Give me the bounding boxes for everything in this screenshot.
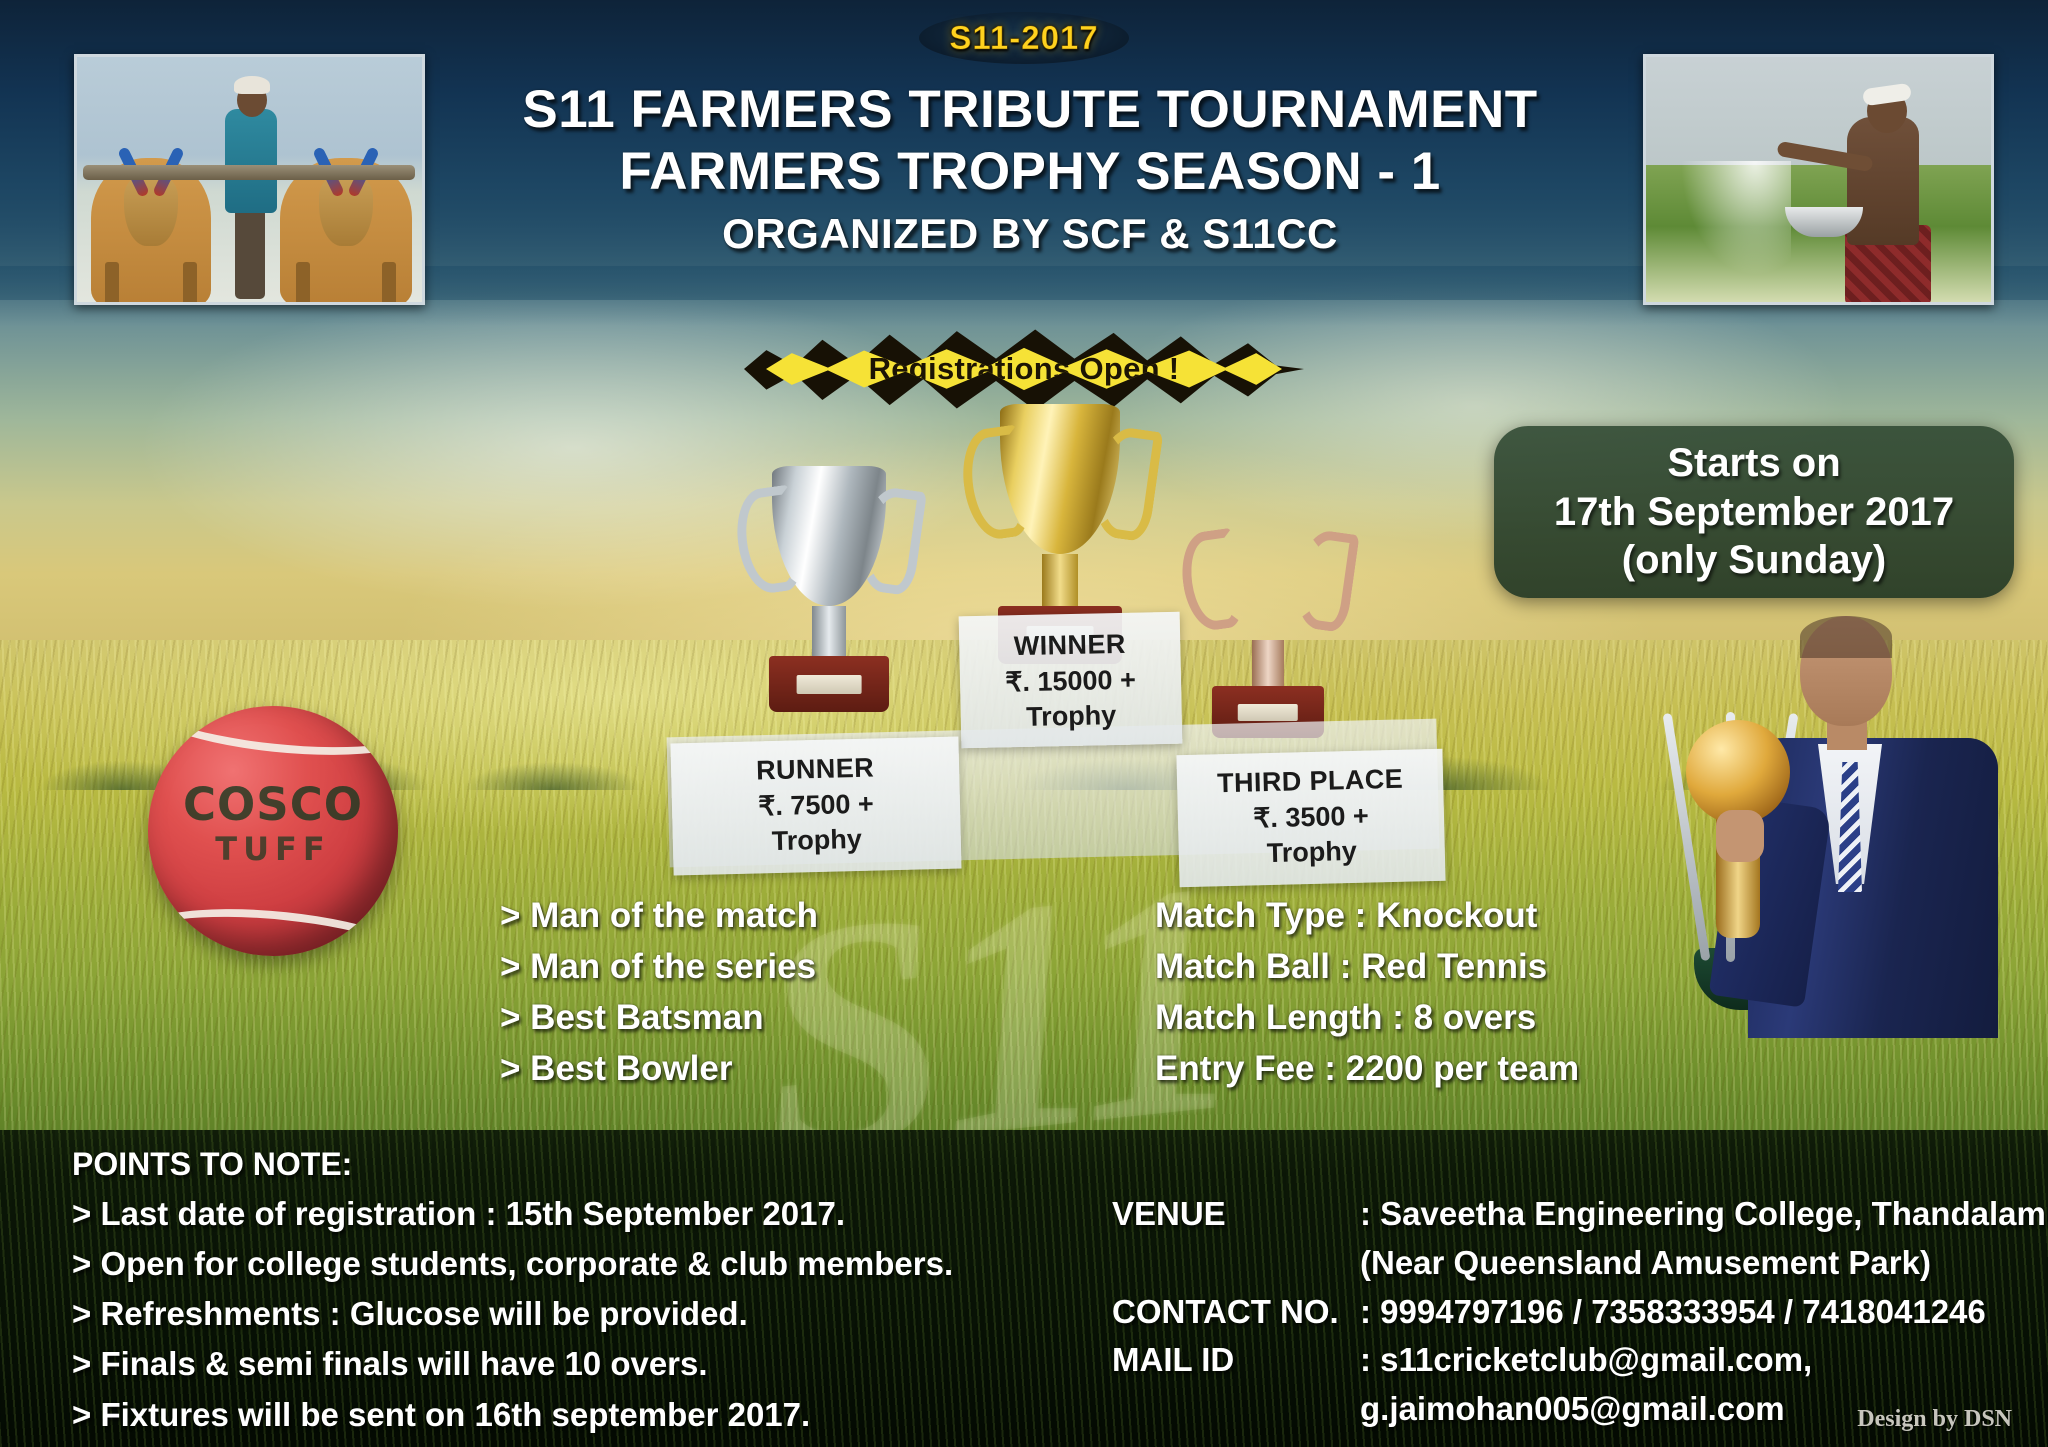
farmer-body [225, 109, 277, 213]
points-to-note-list: > Last date of registration : 15th Septe… [72, 1189, 1012, 1440]
trophy-base [769, 656, 889, 712]
award-item: > Man of the match [500, 890, 818, 941]
tournament-poster: S11 [0, 0, 2048, 1447]
point-item: > Finals & semi finals will have 10 over… [72, 1339, 1012, 1389]
trophy-nameplate [797, 675, 862, 694]
farmer-sowing-photo [1643, 54, 1994, 305]
start-date-line2: 17th September 2017 [1554, 488, 1954, 537]
prize-placard-winner: WINNER ₹. 15000 + Trophy [959, 612, 1183, 749]
ox-left-shape [91, 158, 211, 305]
points-to-note-heading: POINTS TO NOTE: [72, 1146, 1012, 1183]
poster-title-line2: FARMERS TROPHY SEASON - 1 [480, 144, 1580, 200]
season-badge-label: S11-2017 [949, 19, 1098, 57]
match-details-list: Match Type : Knockout Match Ball : Red T… [1155, 890, 1579, 1094]
match-detail-item: Match Type : Knockout [1155, 890, 1579, 941]
contact-number-value: : 9994797196 / 7358333954 / 7418041246 [1360, 1288, 2032, 1337]
ox-right-shape [280, 158, 412, 305]
award-item: > Best Bowler [500, 1043, 818, 1094]
trophy-cup [772, 466, 886, 606]
season-badge: S11-2017 [919, 12, 1129, 64]
man-hand [1716, 810, 1764, 862]
prize-amount-winner: ₹. 15000 + [968, 664, 1174, 699]
venue-value: : Saveetha Engineering College, Thandala… [1360, 1190, 2048, 1239]
cricketer-holding-trophy-photo [1672, 612, 2022, 1032]
ox-head [124, 172, 178, 246]
worldcup-globe [1686, 720, 1790, 824]
farmer-torso [1847, 117, 1919, 245]
farmer-turban [234, 76, 270, 94]
venue-row: VENUE : Saveetha Engineering College, Th… [1112, 1190, 2032, 1239]
mail-id-label: MAIL ID [1112, 1336, 1360, 1385]
prize-title-winner: WINNER [967, 628, 1173, 663]
trophy-stem [812, 606, 845, 656]
trophy-cup [1215, 510, 1321, 640]
ox-head [319, 172, 373, 246]
ball-brand-label: COSCO [148, 778, 398, 831]
prize-extra-runner: Trophy [681, 822, 954, 860]
design-credit: Design by DSN [1857, 1406, 2012, 1433]
prize-amount-third: ₹. 3500 + [1186, 799, 1437, 836]
point-item: > Fixtures will be sent on 16th septembe… [72, 1390, 1012, 1440]
start-date-box: Starts on 17th September 2017 (only Sund… [1494, 426, 2014, 598]
cosco-tennis-ball: COSCO TUFF [148, 706, 398, 956]
prize-placard-third: THIRD PLACE ₹. 3500 + Trophy [1176, 749, 1445, 887]
venue-value-2: (Near Queensland Amusement Park) [1360, 1239, 2032, 1288]
trophy-cup [1000, 404, 1120, 554]
award-item: > Best Batsman [500, 992, 818, 1043]
match-detail-item: Match Length : 8 overs [1155, 992, 1579, 1043]
match-detail-item: Match Ball : Red Tennis [1155, 941, 1579, 992]
start-date-line1: Starts on [1667, 439, 1840, 488]
venue-row-2: X (Near Queensland Amusement Park) [1112, 1239, 2032, 1288]
prize-title-runner: RUNNER [679, 751, 952, 789]
contact-number-label: CONTACT NO. [1112, 1288, 1360, 1337]
mail-id-row: MAIL ID : s11cricketclub@gmail.com, [1112, 1336, 2032, 1385]
ball-seam-bottom [148, 896, 398, 956]
contact-number-row: CONTACT NO. : 9994797196 / 7358333954 / … [1112, 1288, 2032, 1337]
prize-extra-winner: Trophy [968, 699, 1174, 734]
point-item: > Open for college students, corporate &… [72, 1239, 1012, 1289]
trophy-nameplate [1238, 704, 1298, 722]
trophy-stem [1252, 640, 1284, 686]
points-to-note-block: POINTS TO NOTE: > Last date of registrat… [72, 1146, 1012, 1440]
man-hair [1800, 616, 1892, 658]
trophy-stem [1042, 554, 1077, 606]
prize-amount-runner: ₹. 7500 + [680, 787, 953, 825]
prize-extra-third: Trophy [1187, 834, 1438, 871]
bullock-plough-photo [74, 54, 425, 305]
contact-block: VENUE : Saveetha Engineering College, Th… [1112, 1190, 2032, 1434]
venue-label: VENUE [1112, 1190, 1360, 1239]
prize-title-third: THIRD PLACE [1185, 763, 1436, 800]
point-item: > Refreshments : Glucose will be provide… [72, 1289, 1012, 1339]
match-detail-item: Entry Fee : 2200 per team [1155, 1043, 1579, 1094]
poster-organizer-line: ORGANIZED BY SCF & S11CC [480, 212, 1580, 257]
ox-leg [382, 262, 396, 305]
plough-yoke [83, 165, 415, 180]
ox-leg [105, 262, 119, 305]
scattered-seeds [1671, 161, 1791, 291]
silver-trophy-runner [736, 466, 922, 712]
registrations-open-banner: Registrations Open ! [744, 326, 1304, 412]
award-item: > Man of the series [500, 941, 818, 992]
farmer-legs [235, 207, 265, 299]
ox-leg [183, 262, 197, 305]
ox-leg [296, 262, 310, 305]
mail-id-value: : s11cricketclub@gmail.com, [1360, 1336, 2032, 1385]
start-date-line3: (only Sunday) [1622, 536, 1886, 585]
title-group: S11 FARMERS TRIBUTE TOURNAMENT FARMERS T… [480, 82, 1580, 257]
poster-title-line1: S11 FARMERS TRIBUTE TOURNAMENT [480, 82, 1580, 138]
prize-placard-runner: RUNNER ₹. 7500 + Trophy [670, 737, 961, 876]
ball-model-label: TUFF [148, 830, 398, 868]
awards-list: > Man of the match > Man of the series >… [500, 890, 818, 1094]
point-item: > Last date of registration : 15th Septe… [72, 1189, 1012, 1239]
bronze-trophy-third [1180, 510, 1356, 738]
